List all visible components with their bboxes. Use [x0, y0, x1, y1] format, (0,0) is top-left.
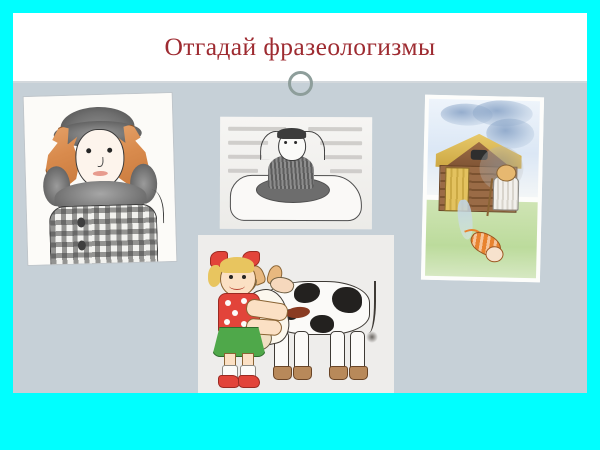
polka-dot: [232, 310, 238, 316]
illustration-man-in-galosh[interactable]: [220, 117, 372, 230]
illustration-canvas: [421, 95, 544, 283]
cow-leg-shape: [350, 331, 365, 379]
girl-shoe-shape: [218, 375, 240, 388]
page-text-line: [320, 141, 362, 145]
illustration-woman-with-burning-ears[interactable]: [24, 93, 177, 265]
right-eye-shape: [294, 141, 297, 144]
cow-hoof-shape: [293, 366, 312, 380]
polka-dot: [224, 319, 230, 325]
slide-canvas: Отгадай фразеологизмы: [13, 13, 587, 393]
decorative-ring-icon: [288, 71, 313, 96]
illustration-canvas: [24, 93, 177, 265]
cow-tail-tuft-shape: [366, 331, 378, 343]
mouth-shape: [93, 171, 108, 176]
green-skirt-shape: [212, 327, 266, 357]
left-eye-shape: [229, 275, 233, 279]
cat-head-shape: [485, 246, 503, 262]
cow-spot-shape: [332, 287, 362, 313]
left-eye-shape: [284, 141, 287, 144]
nose-shape: [97, 157, 103, 167]
cow-hoof-shape: [349, 366, 368, 380]
checkered-coat-shape: [49, 203, 159, 265]
right-eye-shape: [107, 148, 112, 153]
left-eye-shape: [86, 148, 91, 153]
cow-spot-shape: [310, 315, 334, 333]
page-text-line: [324, 155, 362, 159]
page-text-line: [228, 169, 258, 173]
right-eye-shape: [242, 275, 246, 279]
face-shape: [75, 128, 126, 188]
page-text-line: [308, 127, 362, 131]
page-text-line: [228, 155, 262, 159]
illustration-canvas: [198, 235, 394, 393]
illustration-girl-with-cow[interactable]: [198, 235, 394, 393]
cat-shape: [465, 228, 506, 263]
page-text-line: [330, 169, 362, 173]
illustration-smoky-hut-with-cat[interactable]: [421, 95, 544, 283]
man-hair-shape: [277, 128, 306, 139]
cow-hoof-shape: [273, 366, 292, 380]
polka-dot: [225, 300, 231, 306]
cow-leg-shape: [294, 331, 309, 379]
smile-shape: [229, 281, 245, 290]
hair-strand-shape: [146, 189, 164, 223]
cow-hoof-shape: [329, 366, 348, 380]
girl-shoe-shape: [238, 375, 260, 388]
illustration-canvas: [220, 117, 372, 230]
girl-hair-shape: [220, 257, 254, 273]
cow-leg-shape: [330, 331, 345, 379]
